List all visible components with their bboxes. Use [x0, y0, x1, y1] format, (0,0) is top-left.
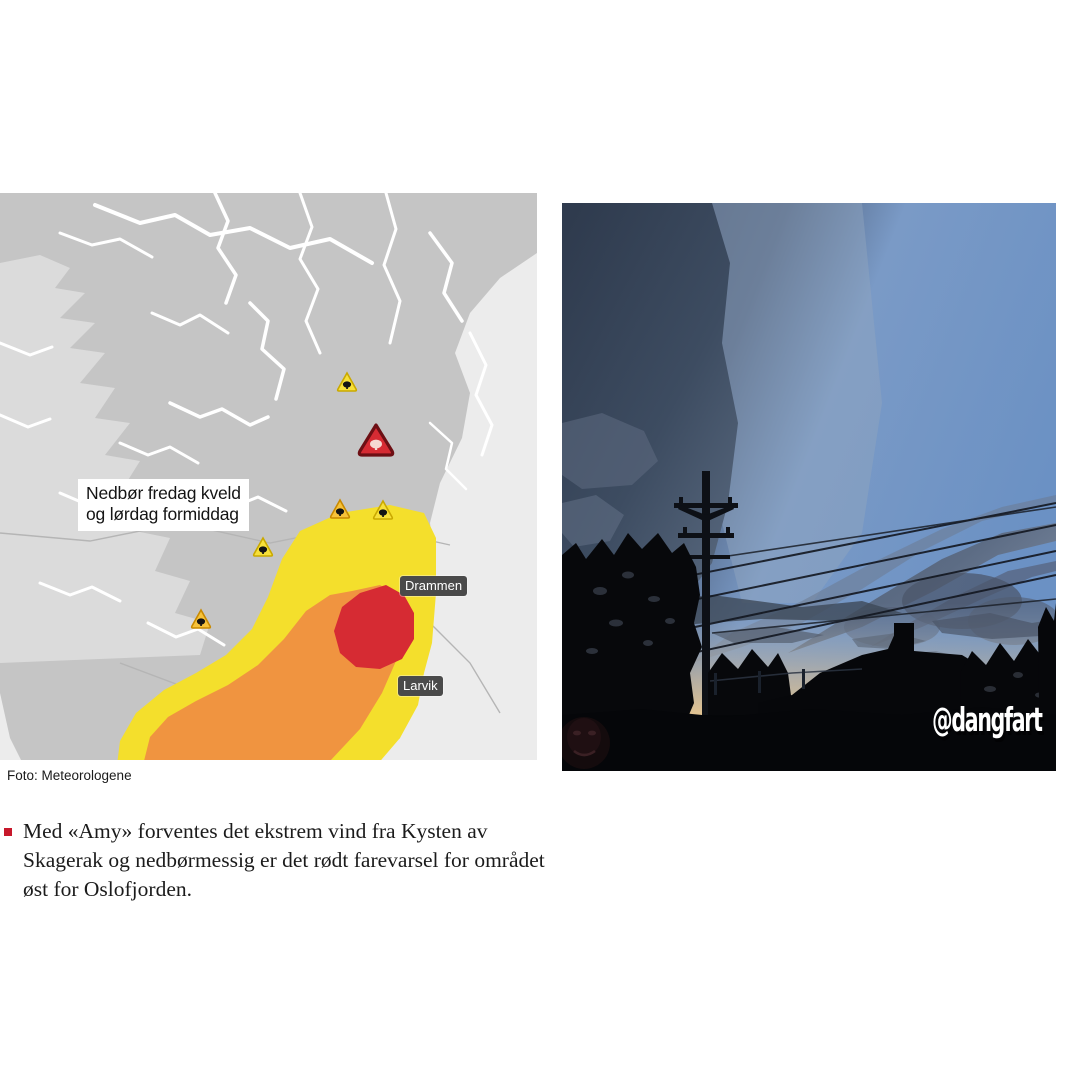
photo-graphic — [562, 203, 1056, 771]
map-graphic — [0, 193, 537, 760]
map-forecast-label: Nedbør fredag kveld og lørdag formiddag — [78, 479, 249, 531]
photo-credit-caption: Foto: Meteorologene — [7, 768, 132, 783]
storm-sky-photo: @dangfart — [562, 203, 1056, 771]
bullet-point-text: Med «Amy» forventes det ekstrem vind fra… — [23, 817, 564, 904]
photo-watermark: @dangfart — [932, 700, 1042, 739]
weather-warning-map: Nedbør fredag kveld og lørdag formiddag … — [0, 193, 537, 760]
map-city-label-drammen: Drammen — [400, 576, 467, 596]
bullet-marker-icon — [4, 828, 12, 836]
bullet-point-item: Med «Amy» forventes det ekstrem vind fra… — [4, 817, 564, 904]
map-city-label-larvik: Larvik — [398, 676, 443, 696]
